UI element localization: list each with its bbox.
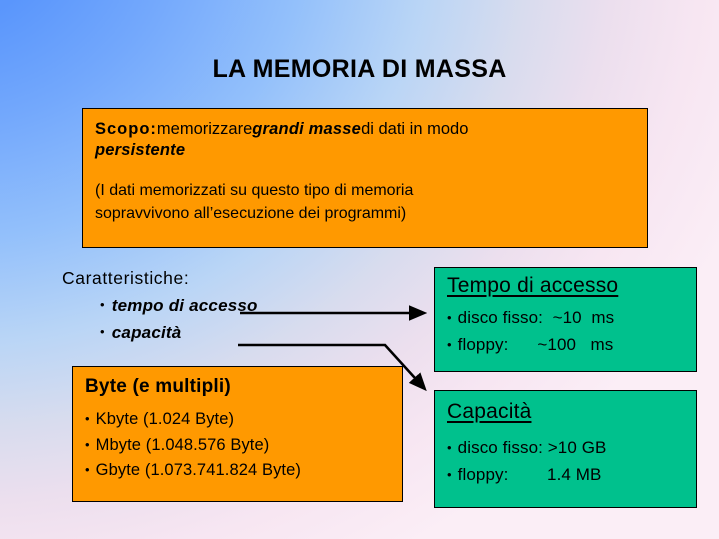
tempo-item-disco-fisso: disco fisso: ~10 ms [458,308,615,327]
caratteristiche-item-capacita: •capacità [100,323,402,343]
capacita-item-floppy: floppy: 1.4 MB [458,465,602,484]
caratteristiche-title: Caratteristiche: [62,268,402,289]
capacita-box-title: Capacità [447,399,684,425]
list-item: •floppy: 1.4 MB [447,461,684,488]
scopo-emphasis-1: grandi masse [252,120,361,138]
tempo-item-floppy: floppy: ~100 ms [458,335,614,354]
caratteristiche-item-tempo: •tempo di accesso [100,296,402,316]
scopo-text-2: di dati in modo [361,120,468,138]
bullet-icon: • [100,297,105,312]
bullet-icon: • [85,437,90,452]
bullet-icon: • [85,462,90,477]
byte-item-gbyte: Gbyte (1.073.741.824 Byte) [96,461,301,479]
slide-canvas: LA MEMORIA DI MASSA Scopo:memorizzaregra… [0,0,719,539]
bullet-icon: • [447,337,452,352]
list-item: •Kbyte (1.024 Byte) [85,407,390,433]
byte-box: Byte (e multipli) •Kbyte (1.024 Byte) •M… [72,366,403,502]
capacita-box-list: •disco fisso: >10 GB •floppy: 1.4 MB [447,434,684,488]
bullet-icon: • [85,411,90,426]
bullet-icon: • [100,324,105,339]
bullet-icon: • [447,440,452,455]
list-item: •disco fisso: >10 GB [447,434,684,461]
list-item: •floppy: ~100 ms [447,331,684,358]
caratteristiche-item-capacita-label: capacità [112,323,182,342]
scopo-note-line-2: sopravvivono all’esecuzione dei programm… [95,202,635,225]
list-item: •disco fisso: ~10 ms [447,304,684,331]
list-item: •Mbyte (1.048.576 Byte) [85,433,390,459]
scopo-note-line-1: (I dati memorizzati su questo tipo di me… [95,179,635,202]
byte-box-title: Byte (e multipli) [85,376,390,398]
bullet-icon: • [447,467,452,482]
list-item: •Gbyte (1.073.741.824 Byte) [85,458,390,484]
scopo-note: (I dati memorizzati su questo tipo di me… [95,179,635,225]
byte-item-kbyte: Kbyte (1.024 Byte) [96,410,234,428]
tempo-di-accesso-box: Tempo di accesso •disco fisso: ~10 ms •f… [434,267,697,372]
tempo-box-title: Tempo di accesso [447,273,684,299]
scopo-text-1: memorizzare [157,120,252,138]
capacita-item-disco-fisso: disco fisso: >10 GB [458,438,607,457]
scopo-lead-label: Scopo: [95,120,157,138]
byte-item-mbyte: Mbyte (1.048.576 Byte) [96,436,270,454]
capacita-box: Capacità •disco fisso: >10 GB •floppy: 1… [434,390,697,508]
scopo-box: Scopo:memorizzaregrandi massedi dati in … [82,108,648,248]
scopo-emphasis-2: persistente [95,140,635,161]
caratteristiche-item-tempo-label: tempo di accesso [112,296,258,315]
bullet-icon: • [447,310,452,325]
tempo-box-list: •disco fisso: ~10 ms •floppy: ~100 ms [447,304,684,358]
caratteristiche-block: Caratteristiche: •tempo di accesso •capa… [62,268,402,343]
page-title: LA MEMORIA DI MASSA [0,55,719,84]
scopo-main-text: Scopo:memorizzaregrandi massedi dati in … [95,119,635,140]
